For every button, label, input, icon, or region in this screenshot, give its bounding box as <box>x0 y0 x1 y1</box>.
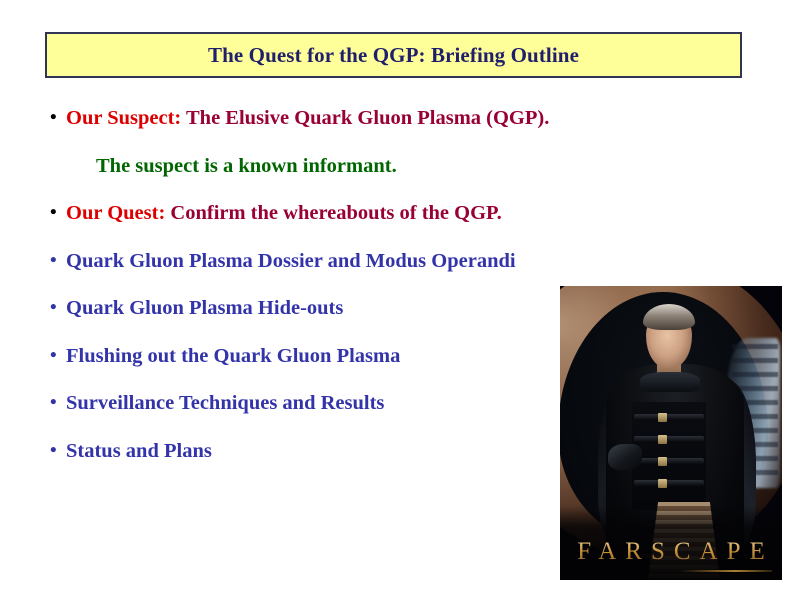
farscape-photo: FARSCAPE <box>560 286 782 580</box>
outline-line-text: Surveillance Techniques and Results <box>66 390 384 416</box>
outline-text-segment: Quark Gluon Plasma Hide-outs <box>66 297 343 319</box>
outline-bullet: •Our Quest: Confirm the whereabouts of t… <box>50 200 750 248</box>
outline-text-segment: Quark Gluon Plasma Dossier and Modus Ope… <box>66 250 516 272</box>
bullet-point-icon: • <box>50 343 66 369</box>
coat-strap <box>634 414 704 421</box>
outline-line-text: The suspect is a known informant. <box>96 153 397 179</box>
coat-clasp <box>658 435 667 444</box>
coat-clasp <box>658 413 667 422</box>
bullet-point-icon: • <box>50 438 66 464</box>
outline-text-segment: Surveillance Techniques and Results <box>66 392 384 414</box>
outline-bullet: •Our Suspect: The Elusive Quark Gluon Pl… <box>50 105 750 153</box>
bullet-point-icon: • <box>50 248 66 274</box>
outline-line-text: Status and Plans <box>66 438 212 464</box>
outline-subline: The suspect is a known informant. <box>50 153 750 201</box>
outline-line-text: Our Quest: Confirm the whereabouts of th… <box>66 200 502 226</box>
outline-text-segment: Status and Plans <box>66 440 212 462</box>
outline-line-text: Our Suspect: The Elusive Quark Gluon Pla… <box>66 105 549 131</box>
coat-strap <box>634 436 704 443</box>
slide-canvas: The Quest for the QGP: Briefing Outline … <box>0 0 800 600</box>
farscape-logo-text: FARSCAPE <box>560 538 782 566</box>
bullet-point-icon: • <box>50 390 66 416</box>
outline-text-segment: Our Suspect: <box>66 107 186 129</box>
outline-line-text: Quark Gluon Plasma Hide-outs <box>66 295 343 321</box>
coat-strap <box>634 458 704 465</box>
outline-line-text: Flushing out the Quark Gluon Plasma <box>66 343 400 369</box>
figure-collar <box>640 372 700 392</box>
coat-strap <box>634 480 704 487</box>
outline-text-segment: The suspect is a known informant. <box>96 155 397 177</box>
outline-line-text: Quark Gluon Plasma Dossier and Modus Ope… <box>66 248 516 274</box>
page-title: The Quest for the QGP: Briefing Outline <box>208 43 579 68</box>
outline-text-segment: Our Quest: <box>66 202 170 224</box>
figure-gloved-hand <box>608 444 642 470</box>
bullet-point-icon: • <box>50 295 66 321</box>
logo-underline <box>680 570 772 572</box>
outline-text-segment: Flushing out the Quark Gluon Plasma <box>66 345 400 367</box>
bullet-point-icon: • <box>50 105 66 131</box>
slide-title-box: The Quest for the QGP: Briefing Outline <box>45 32 742 78</box>
bullet-point-icon: • <box>50 200 66 226</box>
coat-clasp <box>658 457 667 466</box>
coat-clasp <box>658 479 667 488</box>
outline-text-segment: The Elusive Quark Gluon Plasma (QGP). <box>186 107 549 129</box>
outline-text-segment: Confirm the whereabouts of the QGP. <box>170 202 501 224</box>
